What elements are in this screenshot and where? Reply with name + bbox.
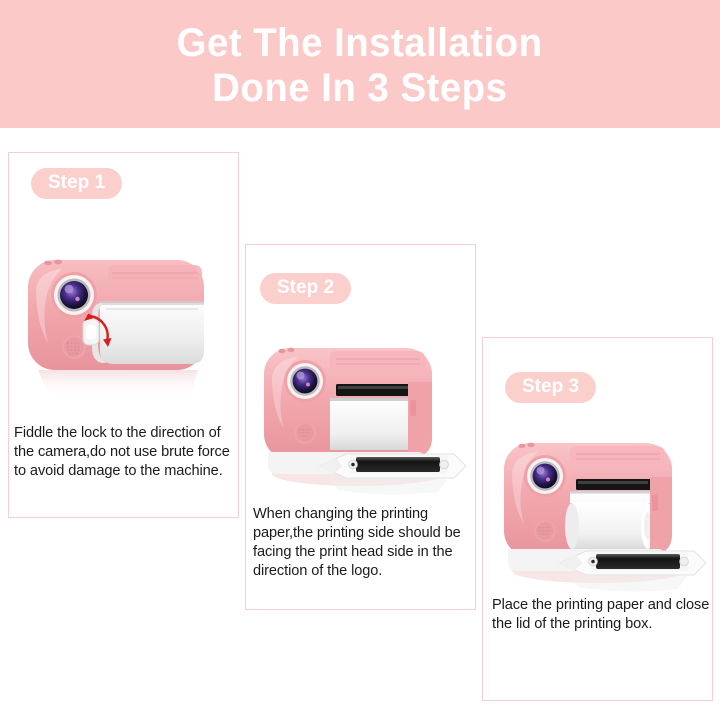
camera-closed-with-lock-arrow-icon xyxy=(22,243,222,418)
header-banner: Get The Installation Done In 3 Steps xyxy=(0,0,720,128)
step-caption-2: When changing the printing paper,the pri… xyxy=(253,505,479,581)
page-title-line-2: Done In 3 Steps xyxy=(212,66,507,111)
step-badge-3: Step 3 xyxy=(505,372,596,403)
camera-image-step-2 xyxy=(258,326,471,504)
step-badge-2: Step 2 xyxy=(260,273,351,304)
step-caption-1: Fiddle the lock to the direction of the … xyxy=(14,424,240,481)
camera-open-paper-tray-icon xyxy=(258,326,471,504)
camera-image-step-1 xyxy=(22,243,222,418)
step-badge-1: Step 1 xyxy=(31,168,122,199)
camera-paper-roll-inserted-icon xyxy=(498,421,711,599)
camera-image-step-3 xyxy=(498,421,711,599)
page-title-line-1: Get The Installation xyxy=(177,21,543,66)
step-caption-3: Place the printing paper and close the l… xyxy=(492,596,718,634)
